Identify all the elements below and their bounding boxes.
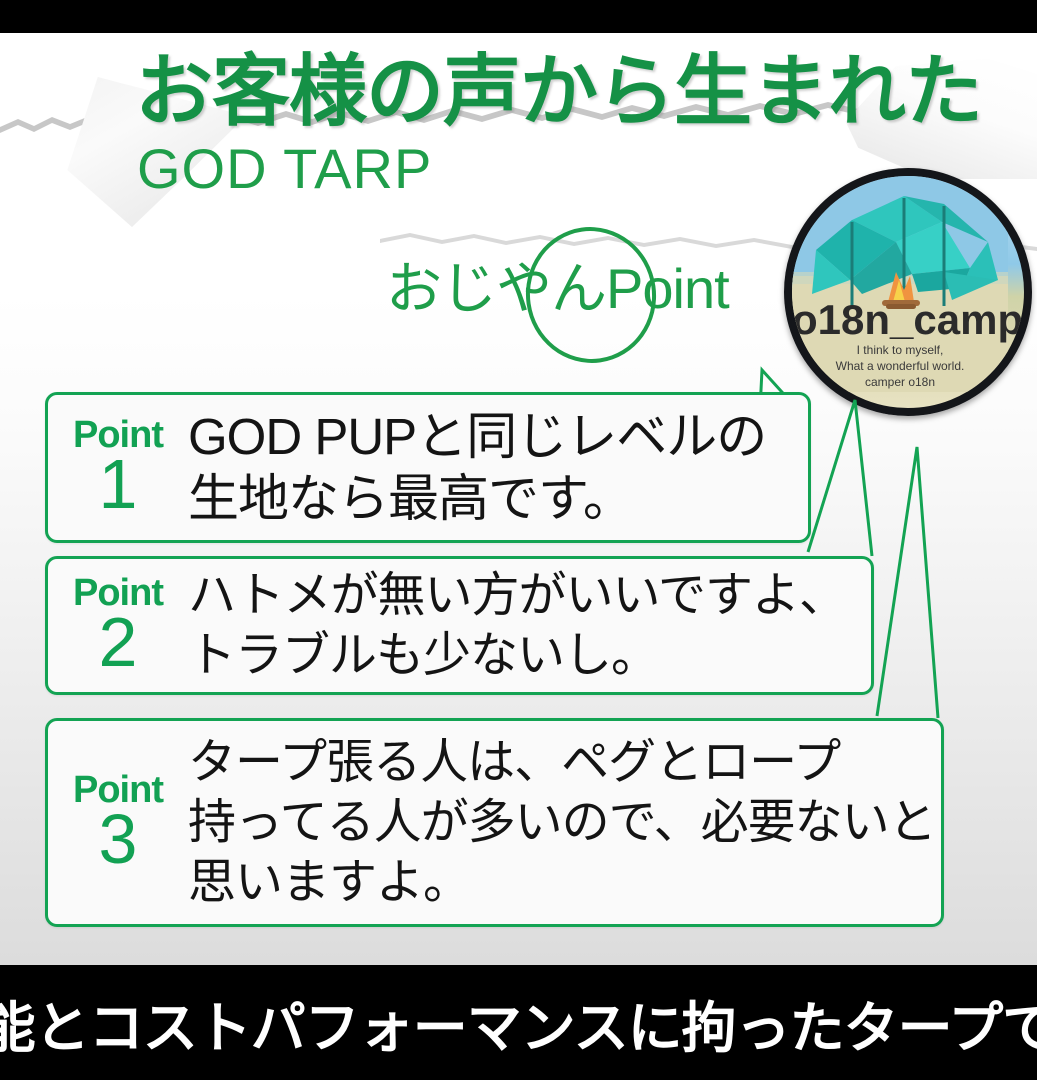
point-number-1: 1	[99, 453, 138, 515]
section-heading: おじやんPoint	[386, 235, 776, 355]
page-subtitle: GOD TARP	[137, 140, 432, 198]
top-black-bar	[0, 0, 1037, 33]
point-label-2: Point 2	[48, 575, 188, 677]
point-text-3-line-1: タープ張る人は、ペグとロープ	[188, 733, 936, 793]
badge-tagline-line3: camper o18n	[792, 374, 1008, 390]
point-text-3: タープ張る人は、ペグとロープ 持ってる人が多いので、必要ないと 思いますよ。	[188, 733, 944, 913]
point-card-1: Point 1 GOD PUPと同じレベルの 生地なら最高です。	[45, 392, 811, 543]
point-number-2: 2	[99, 611, 138, 673]
point-text-2: ハトメが無い方がいいですよ、 トラブルも少ないし。	[188, 566, 871, 686]
point-text-1-line-2: 生地なら最高です。	[188, 468, 800, 530]
point-text-2-line-1: ハトメが無い方がいいですよ、	[188, 566, 863, 626]
point-text-1: GOD PUPと同じレベルの 生地なら最高です。	[188, 406, 808, 530]
point-label-1: Point 1	[48, 417, 188, 519]
point-text-3-line-2: 持ってる人が多いので、必要ないと	[188, 793, 936, 853]
badge-tagline-line1: I think to myself,	[792, 342, 1008, 358]
poster-root: お客様の声から生まれた GOD TARP おじやんPoint	[0, 0, 1037, 1080]
avatar: o18n_camp I think to myself, What a wond…	[784, 168, 1032, 416]
point-number-3: 3	[99, 808, 138, 870]
point-card-3: Point 3 タープ張る人は、ペグとロープ 持ってる人が多いので、必要ないと …	[45, 718, 944, 927]
badge-tagline: I think to myself, What a wonderful worl…	[792, 342, 1008, 390]
section-heading-label: おじやんPoint	[386, 259, 776, 319]
point-card-2: Point 2 ハトメが無い方がいいですよ、 トラブルも少ないし。	[45, 556, 874, 695]
badge-name: o18n_camp	[792, 296, 1008, 344]
point-label-3: Point 3	[48, 772, 188, 874]
footer-banner-text: 機能とコストパフォーマンスに拘ったタープです	[0, 983, 1037, 1063]
page-title: お客様の声から生まれた	[135, 50, 935, 132]
point-text-1-line-1: GOD PUPと同じレベルの	[188, 406, 800, 468]
point-text-2-line-2: トラブルも少ないし。	[188, 626, 863, 686]
footer-banner: 機能とコストパフォーマンスに拘ったタープです	[0, 965, 1037, 1080]
point-text-3-line-3: 思いますよ。	[188, 853, 936, 913]
badge-tagline-line2: What a wonderful world.	[792, 358, 1008, 374]
